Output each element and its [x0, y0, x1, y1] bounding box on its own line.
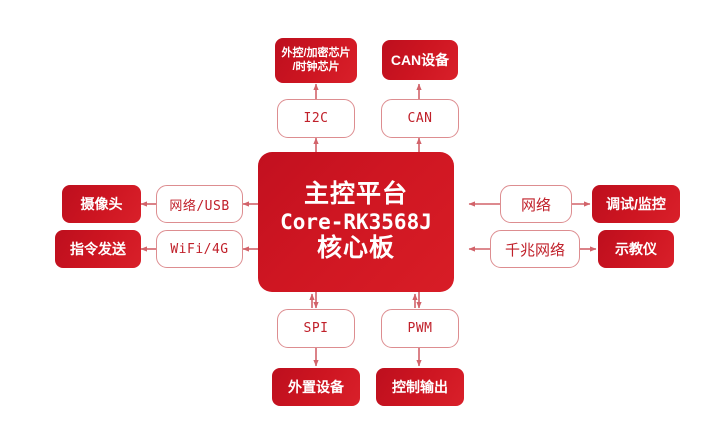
node-bus-gigabit-network-label: 千兆网络 [505, 239, 565, 260]
node-external-crypto-clock-chip: 外控/加密芯片 /时钟芯片 [275, 38, 357, 83]
node-bus-network-usb: 网络/USB [156, 185, 243, 223]
node-bus-spi-label: SPI [304, 321, 329, 336]
node-camera-label: 摄像头 [81, 196, 123, 212]
node-external-device: 外置设备 [272, 368, 360, 406]
node-can-device: CAN设备 [382, 40, 458, 80]
core-title-line-1: 主控平台 [304, 180, 408, 210]
core-platform-block: 主控平台 Core-RK3568J 核心板 [258, 152, 454, 292]
node-debug-monitor-label: 调试/监控 [606, 196, 666, 212]
core-title-line-3: 核心板 [317, 234, 395, 264]
node-bus-pwm-label: PWM [408, 321, 433, 336]
node-bus-i2c: I2C [277, 99, 355, 138]
node-bus-pwm: PWM [381, 309, 459, 348]
node-control-output: 控制输出 [376, 368, 464, 406]
node-bus-i2c-label: I2C [304, 111, 329, 126]
node-command-send-label: 指令发送 [70, 241, 126, 257]
node-bus-network-usb-label: 网络/USB [169, 195, 229, 214]
node-can-device-label: CAN设备 [391, 52, 449, 68]
node-bus-network: 网络 [500, 185, 572, 223]
node-bus-gigabit-network: 千兆网络 [490, 230, 580, 268]
node-camera: 摄像头 [62, 185, 141, 223]
node-command-send: 指令发送 [55, 230, 141, 268]
node-teach-pendant-label: 示教仪 [615, 241, 657, 257]
node-bus-can: CAN [381, 99, 459, 138]
node-external-crypto-clock-chip-label: 外控/加密芯片 /时钟芯片 [281, 47, 350, 75]
node-control-output-label: 控制输出 [392, 379, 448, 395]
node-bus-network-label: 网络 [521, 194, 551, 215]
core-title-line-2: Core-RK3568J [280, 210, 432, 235]
node-bus-can-label: CAN [408, 111, 433, 126]
system-block-diagram: 主控平台 Core-RK3568J 核心板 外控/加密芯片 /时钟芯片 CAN设… [0, 0, 711, 430]
node-bus-wifi-4g: WiFi/4G [156, 230, 243, 268]
node-debug-monitor: 调试/监控 [592, 185, 680, 223]
node-bus-wifi-4g-label: WiFi/4G [170, 242, 228, 257]
node-bus-spi: SPI [277, 309, 355, 348]
node-teach-pendant: 示教仪 [598, 230, 674, 268]
node-external-device-label: 外置设备 [288, 379, 344, 395]
